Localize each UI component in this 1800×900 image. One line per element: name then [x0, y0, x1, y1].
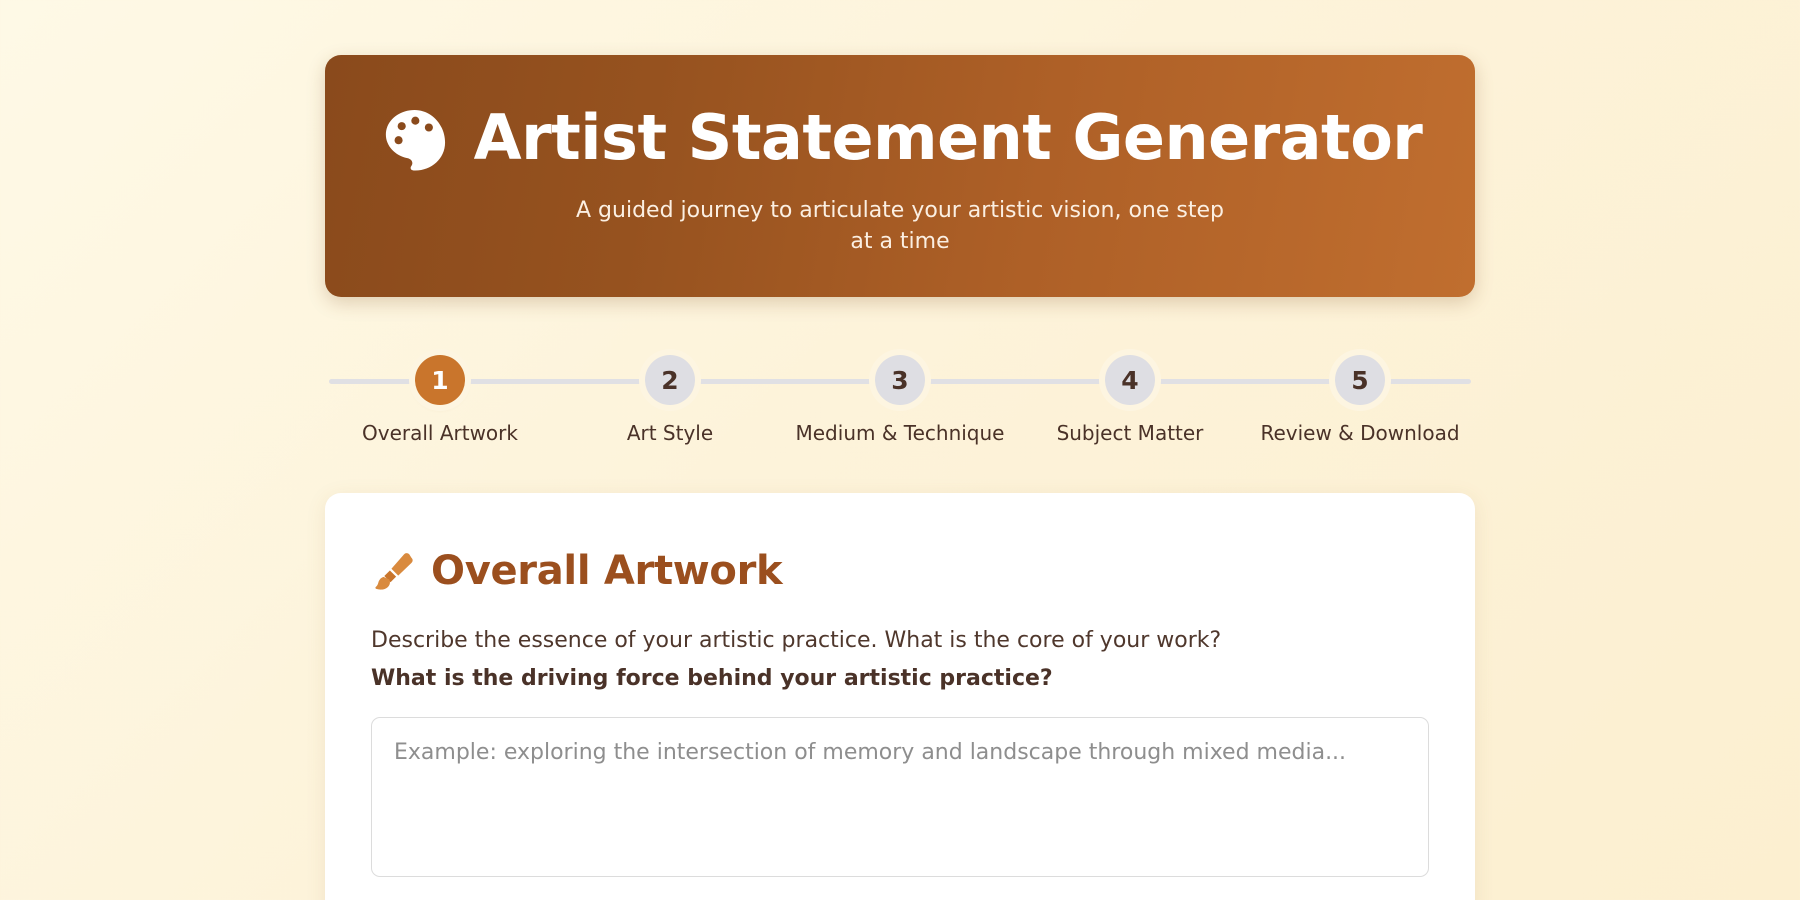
step-label: Medium & Technique [796, 421, 1005, 445]
app-header-banner: Artist Statement Generator A guided jour… [325, 55, 1475, 297]
paintbrush-icon [371, 549, 415, 593]
section-description: Describe the essence of your artistic pr… [371, 625, 1429, 657]
section-title: Overall Artwork [431, 549, 782, 593]
step-content-card: Overall Artwork Describe the essence of … [325, 493, 1475, 900]
step-number-badge[interactable]: 3 [875, 355, 925, 405]
section-header: Overall Artwork [371, 549, 1429, 593]
content-shell: Artist Statement Generator A guided jour… [325, 0, 1475, 900]
app-title-row: Artist Statement Generator [365, 99, 1435, 177]
step-label: Subject Matter [1057, 421, 1204, 445]
palette-icon [378, 103, 452, 177]
step-progress-indicator: 1 Overall Artwork 2 Art Style 3 Medium &… [325, 355, 1475, 445]
step-item-overall-artwork[interactable]: 1 Overall Artwork [325, 355, 555, 445]
page-title: Artist Statement Generator [474, 105, 1423, 170]
step-number-badge[interactable]: 1 [415, 355, 465, 405]
step-label: Art Style [627, 421, 713, 445]
step-number-badge[interactable]: 5 [1335, 355, 1385, 405]
step-item-medium-technique[interactable]: 3 Medium & Technique [785, 355, 1015, 445]
answer-textarea[interactable] [371, 717, 1429, 877]
app-page: Artist Statement Generator A guided jour… [0, 0, 1800, 900]
page-subtitle: A guided journey to articulate your arti… [570, 195, 1230, 257]
step-item-review-download[interactable]: 5 Review & Download [1245, 355, 1475, 445]
step-label: Review & Download [1260, 421, 1459, 445]
step-item-subject-matter[interactable]: 4 Subject Matter [1015, 355, 1245, 445]
step-number-badge[interactable]: 2 [645, 355, 695, 405]
step-item-art-style[interactable]: 2 Art Style [555, 355, 785, 445]
step-number-badge[interactable]: 4 [1105, 355, 1155, 405]
question-label: What is the driving force behind your ar… [371, 663, 1429, 695]
step-label: Overall Artwork [362, 421, 518, 445]
